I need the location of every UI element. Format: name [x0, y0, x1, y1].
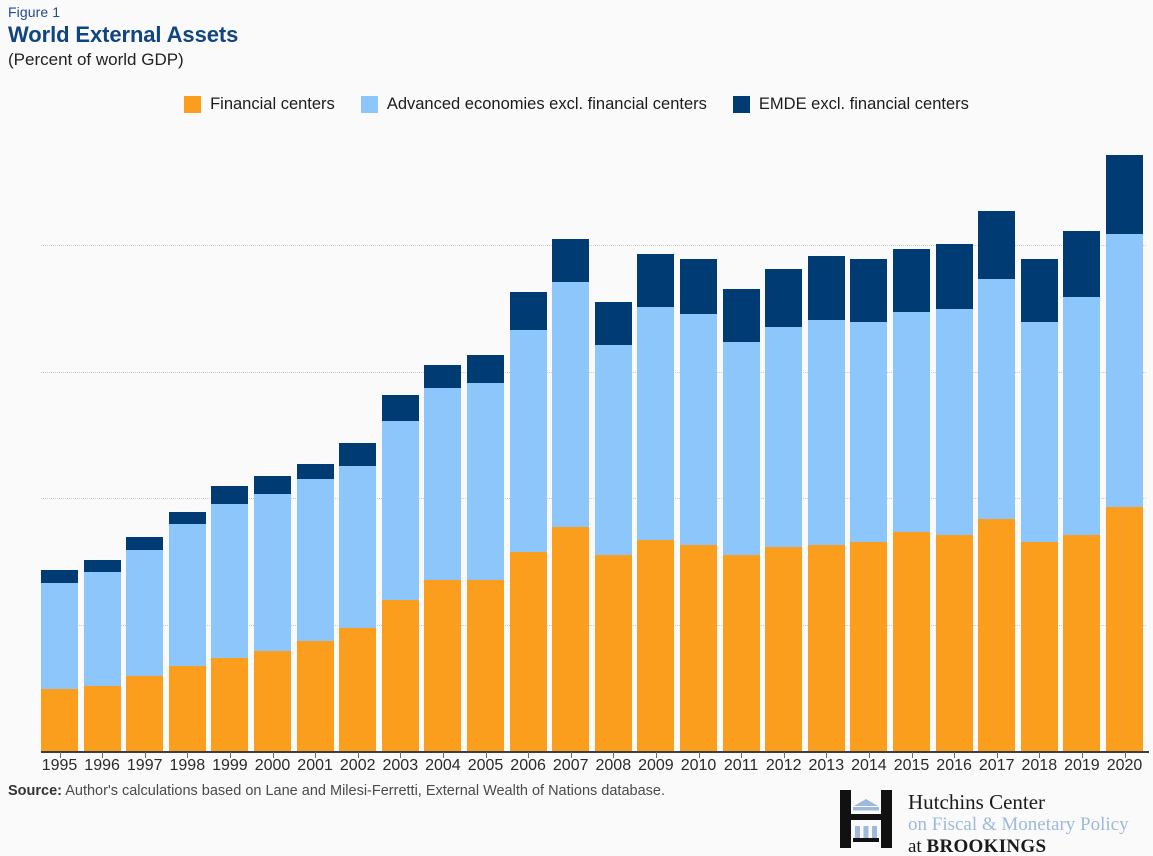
- bar-segment-emde[interactable]: [339, 443, 376, 466]
- x-axis-tick-label: 2007: [553, 757, 589, 775]
- source-label: Source:: [8, 783, 62, 799]
- bar-segment-advanced-economies[interactable]: [382, 421, 419, 601]
- x-axis-tick-label: 1995: [42, 757, 78, 775]
- bar-segment-advanced-economies[interactable]: [637, 307, 674, 540]
- bar-segment-financial-centers[interactable]: [1106, 507, 1143, 752]
- legend-swatch-emde: [733, 96, 750, 113]
- x-axis-tick-label: 1997: [127, 757, 163, 775]
- bar-stack[interactable]: [808, 256, 845, 752]
- bar-segment-emde[interactable]: [41, 570, 78, 583]
- bar-segment-financial-centers[interactable]: [211, 658, 248, 752]
- bar-segment-advanced-economies[interactable]: [424, 388, 461, 580]
- x-axis-tick-label: 2003: [383, 757, 419, 775]
- x-axis-tick-label: 1998: [170, 757, 206, 775]
- bar-segment-emde[interactable]: [893, 249, 930, 312]
- x-axis-tick-label: 2002: [340, 757, 376, 775]
- x-axis-tick-label: 2008: [596, 757, 632, 775]
- bar-stack[interactable]: [297, 464, 334, 752]
- x-axis-tick-label: 2020: [1107, 757, 1143, 775]
- x-axis-tick-label: 2004: [425, 757, 461, 775]
- bar-segment-advanced-economies[interactable]: [850, 322, 887, 542]
- bar-segment-emde[interactable]: [126, 537, 163, 550]
- brookings-logo-text: Hutchins Center on Fiscal & Monetary Pol…: [908, 790, 1129, 856]
- bar-segment-advanced-economies[interactable]: [680, 314, 717, 544]
- source-text: Author's calculations based on Lane and …: [62, 783, 665, 799]
- bar-segment-financial-centers[interactable]: [552, 527, 589, 752]
- x-axis-line: [41, 751, 1149, 753]
- logo-brand-brookings: BROOKINGS: [926, 836, 1046, 856]
- bar-segment-advanced-economies[interactable]: [552, 282, 589, 527]
- logo-line-brookings: at BROOKINGS: [908, 836, 1129, 856]
- bar-segment-financial-centers[interactable]: [808, 545, 845, 752]
- x-axis-tick-label: 2015: [894, 757, 930, 775]
- bar-segment-financial-centers[interactable]: [978, 519, 1015, 752]
- bar-segment-emde[interactable]: [1021, 259, 1058, 322]
- bar-segment-advanced-economies[interactable]: [1021, 322, 1058, 542]
- legend-item-label: Financial centers: [210, 95, 335, 114]
- x-axis-tick-label: 2014: [851, 757, 887, 775]
- bar-segment-emde[interactable]: [510, 292, 547, 330]
- bar-segment-emde[interactable]: [637, 254, 674, 307]
- bar-segment-advanced-economies[interactable]: [808, 320, 845, 545]
- bar-segment-financial-centers[interactable]: [595, 555, 632, 752]
- bar-segment-financial-centers[interactable]: [723, 555, 760, 752]
- legend-swatch-financial-centers: [184, 96, 201, 113]
- bar-stack[interactable]: [978, 211, 1015, 752]
- bar-segment-financial-centers[interactable]: [169, 666, 206, 752]
- bar-segment-emde[interactable]: [765, 269, 802, 327]
- figure-root: Figure 1 World External Assets (Percent …: [0, 0, 1153, 856]
- x-axis-tick-label: 1999: [212, 757, 248, 775]
- bar-segment-financial-centers[interactable]: [297, 641, 334, 752]
- x-axis-tick-label: 2017: [979, 757, 1015, 775]
- bar-stack[interactable]: [1063, 231, 1100, 752]
- bar-stack[interactable]: [382, 395, 419, 752]
- bar-segment-financial-centers[interactable]: [765, 547, 802, 752]
- bar-stack[interactable]: [339, 443, 376, 752]
- bar-stack[interactable]: [211, 486, 248, 752]
- bar-segment-financial-centers[interactable]: [254, 651, 291, 752]
- bar-segment-advanced-economies[interactable]: [297, 479, 334, 641]
- bar-segment-advanced-economies[interactable]: [339, 466, 376, 628]
- bar-segment-emde[interactable]: [595, 302, 632, 345]
- x-axis-tick-label: 2013: [809, 757, 845, 775]
- chart-bars-and-grid: [41, 145, 1146, 752]
- bar-stack[interactable]: [126, 537, 163, 752]
- logo-line-hutchins-center: Hutchins Center: [908, 791, 1129, 814]
- x-axis-tick-label: 2005: [468, 757, 504, 775]
- bar-stack[interactable]: [850, 259, 887, 752]
- legend-item[interactable]: EMDE excl. financial centers: [733, 95, 969, 114]
- x-axis-tick-label: 2000: [255, 757, 291, 775]
- bar-segment-advanced-economies[interactable]: [84, 572, 121, 686]
- bar-segment-emde[interactable]: [850, 259, 887, 322]
- bar-stack[interactable]: [1106, 155, 1143, 752]
- bar-segment-emde[interactable]: [1106, 155, 1143, 233]
- x-axis-tick-label: 2016: [936, 757, 972, 775]
- bar-stack[interactable]: [1021, 259, 1058, 752]
- bar-stack[interactable]: [723, 289, 760, 752]
- bar-segment-advanced-economies[interactable]: [510, 330, 547, 553]
- bar-segment-advanced-economies[interactable]: [41, 583, 78, 689]
- bar-segment-financial-centers[interactable]: [382, 600, 419, 752]
- bar-stack[interactable]: [41, 570, 78, 752]
- source-note: Source: Author's calculations based on L…: [8, 782, 665, 801]
- bar-segment-advanced-economies[interactable]: [254, 494, 291, 651]
- bar-segment-financial-centers[interactable]: [424, 580, 461, 752]
- bar-segment-emde[interactable]: [978, 211, 1015, 279]
- x-axis-tick-label: 1996: [84, 757, 120, 775]
- x-axis-tick-label: 2012: [766, 757, 802, 775]
- bar-segment-advanced-economies[interactable]: [893, 312, 930, 532]
- bar-segment-emde[interactable]: [211, 486, 248, 504]
- bar-segment-advanced-economies[interactable]: [1063, 297, 1100, 535]
- bar-stack[interactable]: [680, 259, 717, 752]
- bar-segment-financial-centers[interactable]: [84, 686, 121, 752]
- x-axis-tick-label: 2001: [297, 757, 333, 775]
- legend-swatch-advanced-economies: [361, 96, 378, 113]
- bar-segment-financial-centers[interactable]: [41, 689, 78, 752]
- chart-plot-area: [41, 145, 1146, 752]
- bar-segment-emde[interactable]: [84, 560, 121, 573]
- figure-header: Figure 1 World External Assets (Percent …: [8, 4, 238, 71]
- logo-line-fiscal-monetary: on Fiscal & Monetary Policy: [908, 814, 1129, 836]
- bar-segment-financial-centers[interactable]: [467, 580, 504, 752]
- bar-segment-advanced-economies[interactable]: [1106, 234, 1143, 507]
- x-axis-tick-label: 2009: [638, 757, 674, 775]
- legend-item-label: EMDE excl. financial centers: [759, 95, 969, 114]
- legend-item[interactable]: Advanced economies excl. financial cente…: [361, 95, 707, 114]
- bar-segment-emde[interactable]: [382, 395, 419, 420]
- bar-stack[interactable]: [254, 476, 291, 752]
- bar-stack[interactable]: [84, 560, 121, 752]
- bar-segment-financial-centers[interactable]: [680, 545, 717, 752]
- brookings-logo: Hutchins Center on Fiscal & Monetary Pol…: [838, 790, 1129, 856]
- bar-segment-financial-centers[interactable]: [893, 532, 930, 752]
- x-axis-tick-label: 2018: [1022, 757, 1058, 775]
- bar-segment-financial-centers[interactable]: [1063, 535, 1100, 753]
- bar-segment-financial-centers[interactable]: [637, 540, 674, 752]
- logo-at-prefix: at: [908, 836, 926, 856]
- bar-segment-emde[interactable]: [808, 256, 845, 319]
- bar-segment-emde[interactable]: [254, 476, 291, 494]
- legend-item[interactable]: Financial centers: [184, 95, 335, 114]
- bar-segment-financial-centers[interactable]: [510, 552, 547, 752]
- bar-stack[interactable]: [467, 355, 504, 752]
- bar-stack[interactable]: [936, 244, 973, 752]
- x-axis-tick-label: 2019: [1064, 757, 1100, 775]
- bar-segment-financial-centers[interactable]: [126, 676, 163, 752]
- bar-segment-advanced-economies[interactable]: [723, 342, 760, 554]
- bar-segment-emde[interactable]: [169, 512, 206, 525]
- bar-stack[interactable]: [765, 269, 802, 752]
- bar-segment-advanced-economies[interactable]: [467, 383, 504, 580]
- bar-segment-advanced-economies[interactable]: [765, 327, 802, 547]
- bar-segment-advanced-economies[interactable]: [211, 504, 248, 658]
- bar-segment-emde[interactable]: [680, 259, 717, 315]
- bar-segment-financial-centers[interactable]: [936, 535, 973, 753]
- bar-stack[interactable]: [893, 249, 930, 752]
- figure-number-label: Figure 1: [8, 4, 238, 21]
- bar-stack[interactable]: [595, 302, 632, 752]
- bar-segment-financial-centers[interactable]: [850, 542, 887, 752]
- bar-segment-advanced-economies[interactable]: [126, 550, 163, 676]
- bar-segment-emde[interactable]: [552, 239, 589, 282]
- bar-segment-financial-centers[interactable]: [1021, 542, 1058, 752]
- bar-segment-emde[interactable]: [297, 464, 334, 479]
- chart-legend: Financial centersAdvanced economies excl…: [0, 95, 1153, 114]
- bar-stack[interactable]: [637, 254, 674, 752]
- bar-segment-advanced-economies[interactable]: [936, 309, 973, 534]
- bar-segment-emde[interactable]: [1063, 231, 1100, 297]
- bar-segment-emde[interactable]: [467, 355, 504, 383]
- bar-segment-advanced-economies[interactable]: [169, 524, 206, 666]
- bar-stack[interactable]: [552, 239, 589, 752]
- bar-segment-emde[interactable]: [936, 244, 973, 310]
- bar-segment-advanced-economies[interactable]: [595, 345, 632, 555]
- page-title: World External Assets: [8, 21, 238, 48]
- brookings-h-columns-logo-icon: [838, 790, 894, 848]
- bar-segment-financial-centers[interactable]: [339, 628, 376, 752]
- legend-item-label: Advanced economies excl. financial cente…: [387, 95, 707, 114]
- bar-segment-emde[interactable]: [424, 365, 461, 388]
- figure-subtitle: (Percent of world GDP): [8, 48, 238, 71]
- bar-stack[interactable]: [169, 512, 206, 752]
- x-axis-tick-label: 2011: [724, 757, 758, 775]
- bar-stack[interactable]: [510, 292, 547, 752]
- x-axis-tick-label: 2006: [510, 757, 546, 775]
- x-axis-tick-label: 2010: [681, 757, 717, 775]
- bar-segment-advanced-economies[interactable]: [978, 279, 1015, 519]
- bar-stack[interactable]: [424, 365, 461, 752]
- bar-segment-emde[interactable]: [723, 289, 760, 342]
